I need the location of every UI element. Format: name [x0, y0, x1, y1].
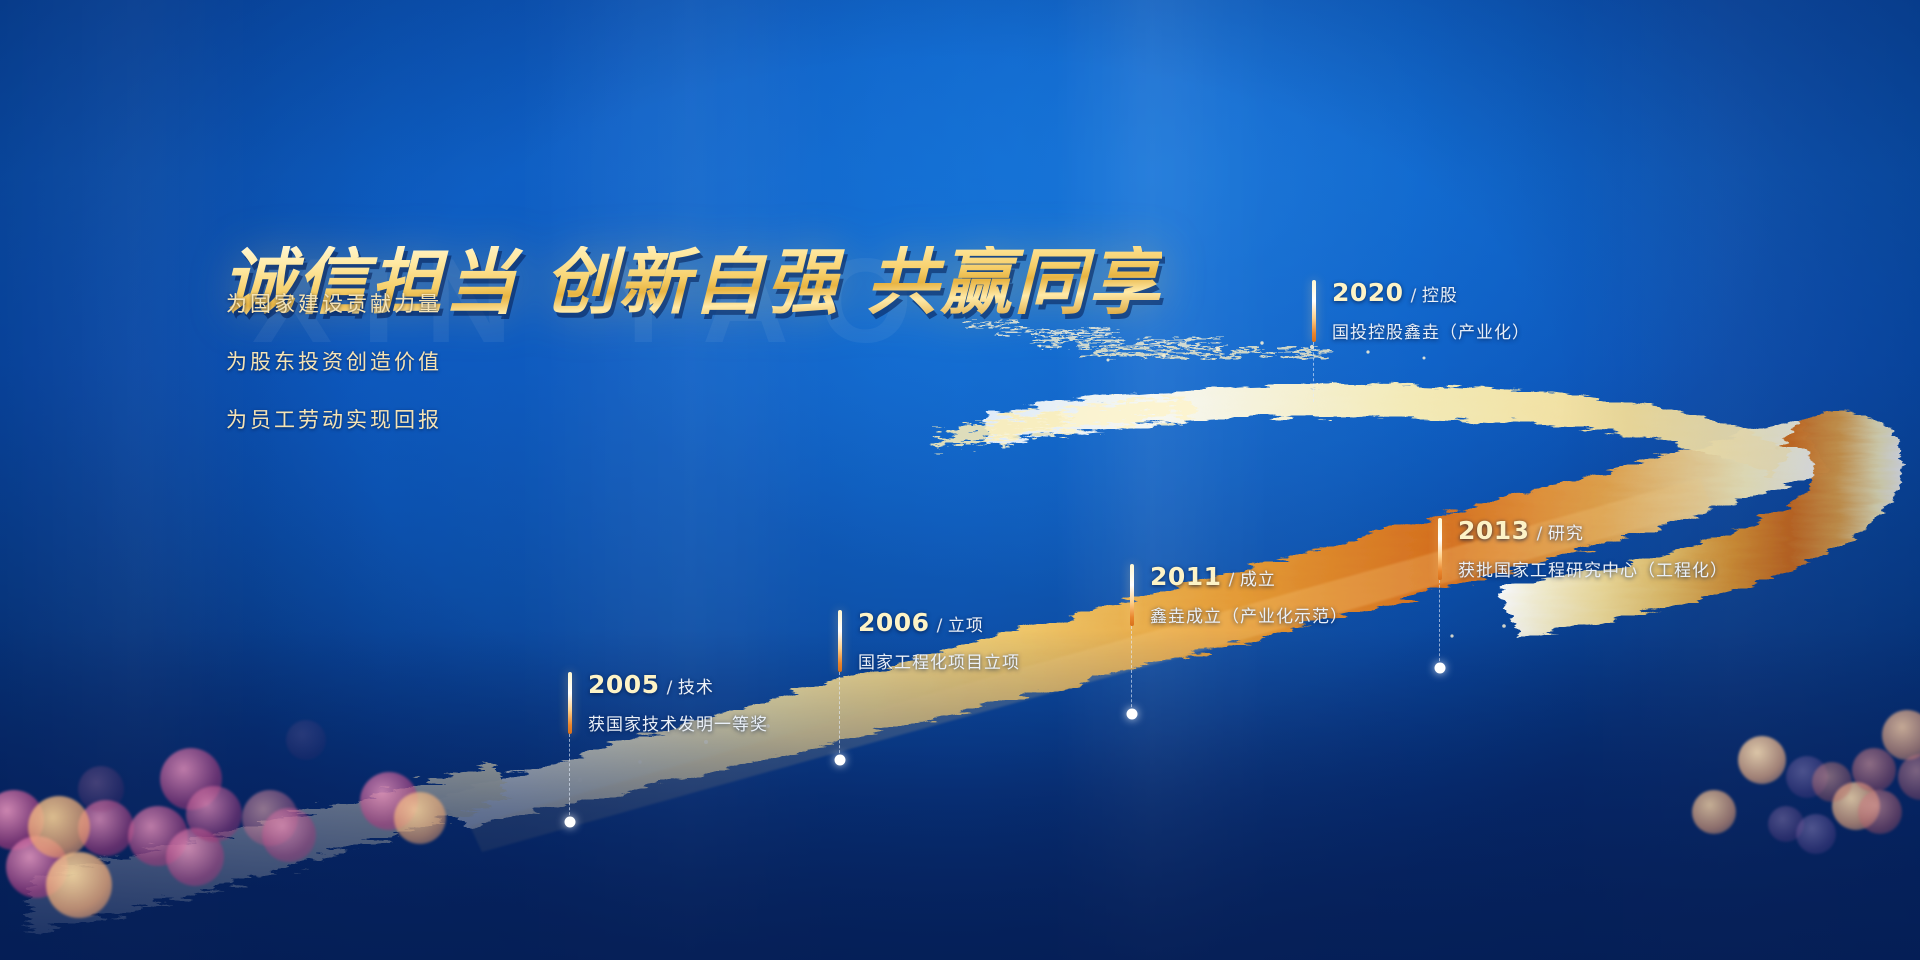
poster-canvas: XIN YAO 诚信担当创新自强共赢同享 为国家建设贡献力量 为股东投资创造价值… [0, 0, 1920, 960]
milestone-leader-line [1313, 342, 1314, 402]
milestone-category: 立项 [948, 616, 984, 636]
milestone-heading: 2020/控股 [1332, 278, 1530, 307]
milestone-heading: 2011/成立 [1150, 562, 1348, 591]
milestone-description: 鑫垚成立（产业化示范） [1150, 602, 1348, 627]
milestone-description: 获国家技术发明一等奖 [588, 710, 768, 735]
milestone-leader-line [1439, 580, 1440, 666]
milestone-year: 2005 [588, 670, 660, 699]
milestone-category: 控股 [1422, 286, 1458, 306]
milestone-accent-bar [1438, 518, 1442, 580]
slogan-item-1: 为国家建设贡献力量 [226, 288, 442, 318]
milestone-dot[interactable] [835, 755, 846, 766]
milestone-text: 2011/成立 鑫垚成立（产业化示范） [1150, 562, 1348, 627]
milestone-description: 国家工程化项目立项 [858, 648, 1020, 673]
milestone-text: 2005/技术 获国家技术发明一等奖 [588, 670, 768, 735]
milestone-text: 2013/研究 获批国家工程研究中心（工程化） [1458, 516, 1728, 581]
milestone-dot[interactable] [1435, 663, 1446, 674]
milestone-heading: 2006/立项 [858, 608, 1020, 637]
milestone-heading: 2005/技术 [588, 670, 768, 699]
milestone-leader-line [569, 734, 570, 820]
milestone-dot[interactable] [565, 817, 576, 828]
bottom-shade-overlay [0, 630, 1920, 960]
milestone-category: 研究 [1548, 524, 1584, 544]
milestone-text: 2020/控股 国投控股鑫垚（产业化） [1332, 278, 1530, 343]
milestone-category: 技术 [678, 678, 714, 698]
milestone-category: 成立 [1240, 570, 1276, 590]
milestone-separator: / [667, 678, 673, 698]
slogan-item-2: 为股东投资创造价值 [226, 346, 442, 376]
milestone-separator: / [1537, 524, 1543, 544]
headline-part-2: 创新自强 [544, 240, 840, 324]
milestone-description: 国投控股鑫垚（产业化） [1332, 318, 1530, 343]
milestone-accent-bar [1312, 280, 1316, 342]
milestone-accent-bar [838, 610, 842, 672]
milestone-year: 2013 [1458, 516, 1530, 545]
milestone-year: 2020 [1332, 278, 1404, 307]
milestone-description: 获批国家工程研究中心（工程化） [1458, 556, 1728, 581]
milestone-separator: / [1229, 570, 1235, 590]
milestone-accent-bar [1130, 564, 1134, 626]
milestone-leader-line [1131, 626, 1132, 712]
milestone-separator: / [1411, 286, 1417, 306]
slogan-item-3: 为员工劳动实现回报 [226, 404, 442, 434]
headline-part-3: 共赢同享 [866, 240, 1162, 324]
milestone-text: 2006/立项 国家工程化项目立项 [858, 608, 1020, 673]
milestone-leader-line [839, 672, 840, 758]
milestone-dot[interactable] [1127, 709, 1138, 720]
milestone-year: 2006 [858, 608, 930, 637]
milestone-year: 2011 [1150, 562, 1222, 591]
slogan-list: 为国家建设贡献力量 为股东投资创造价值 为员工劳动实现回报 [226, 288, 442, 462]
milestone-accent-bar [568, 672, 572, 734]
milestone-separator: / [937, 616, 943, 636]
milestone-heading: 2013/研究 [1458, 516, 1728, 545]
